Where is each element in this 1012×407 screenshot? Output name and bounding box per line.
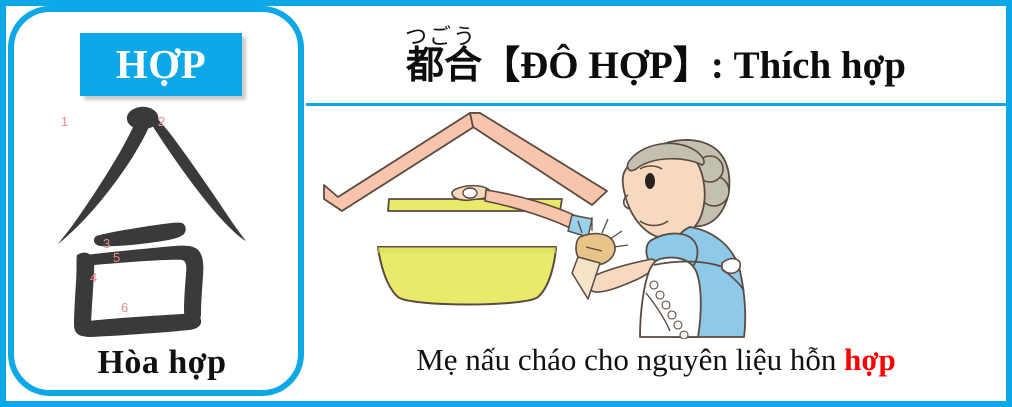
bracket-close: 】: [673, 43, 711, 87]
header-sino-reading: ĐÔ HỢP: [520, 44, 673, 87]
flashcard-page: HỢP: [0, 0, 1012, 407]
reading-badge: HỢP: [80, 33, 242, 96]
kanji-card: HỢP: [8, 6, 304, 396]
stroke-number-1: 1: [61, 114, 68, 129]
kanji-strokes: [58, 107, 246, 337]
caption-highlight-word: hợp: [844, 342, 896, 377]
kanji-meaning-label: Hòa hợp: [14, 344, 310, 382]
header-word: 都合: [406, 43, 482, 87]
header-separator: :: [711, 44, 724, 87]
reading-badge-label: HỢP: [116, 44, 206, 85]
stroke-number-6: 6: [121, 300, 128, 315]
yellow-bowl: [378, 247, 556, 305]
header-block: つごう 都合【ĐÔ HỢP】: Thích hợp: [306, 6, 1006, 103]
header-title: 都合【ĐÔ HỢP】: Thích hợp: [306, 44, 1006, 89]
example-caption: Mẹ nấu cháo cho nguyên liệu hỗn hợp: [306, 342, 1006, 378]
bracket-open: 【: [482, 43, 520, 87]
stroke-number-2: 2: [158, 114, 165, 129]
illustration: [310, 107, 1006, 339]
kanji-stroke-diagram: 1 2 3 4 5 6: [32, 104, 292, 339]
header-divider: [306, 103, 1006, 106]
stroke-number-4: 4: [90, 270, 97, 285]
stroke-number-5: 5: [113, 250, 120, 265]
header-meaning: Thích hợp: [734, 44, 906, 87]
woman-figure: [572, 140, 745, 339]
stroke-number-3: 3: [103, 236, 110, 251]
caption-plain-text: Mẹ nấu cháo cho nguyên liệu hỗn: [416, 342, 836, 377]
